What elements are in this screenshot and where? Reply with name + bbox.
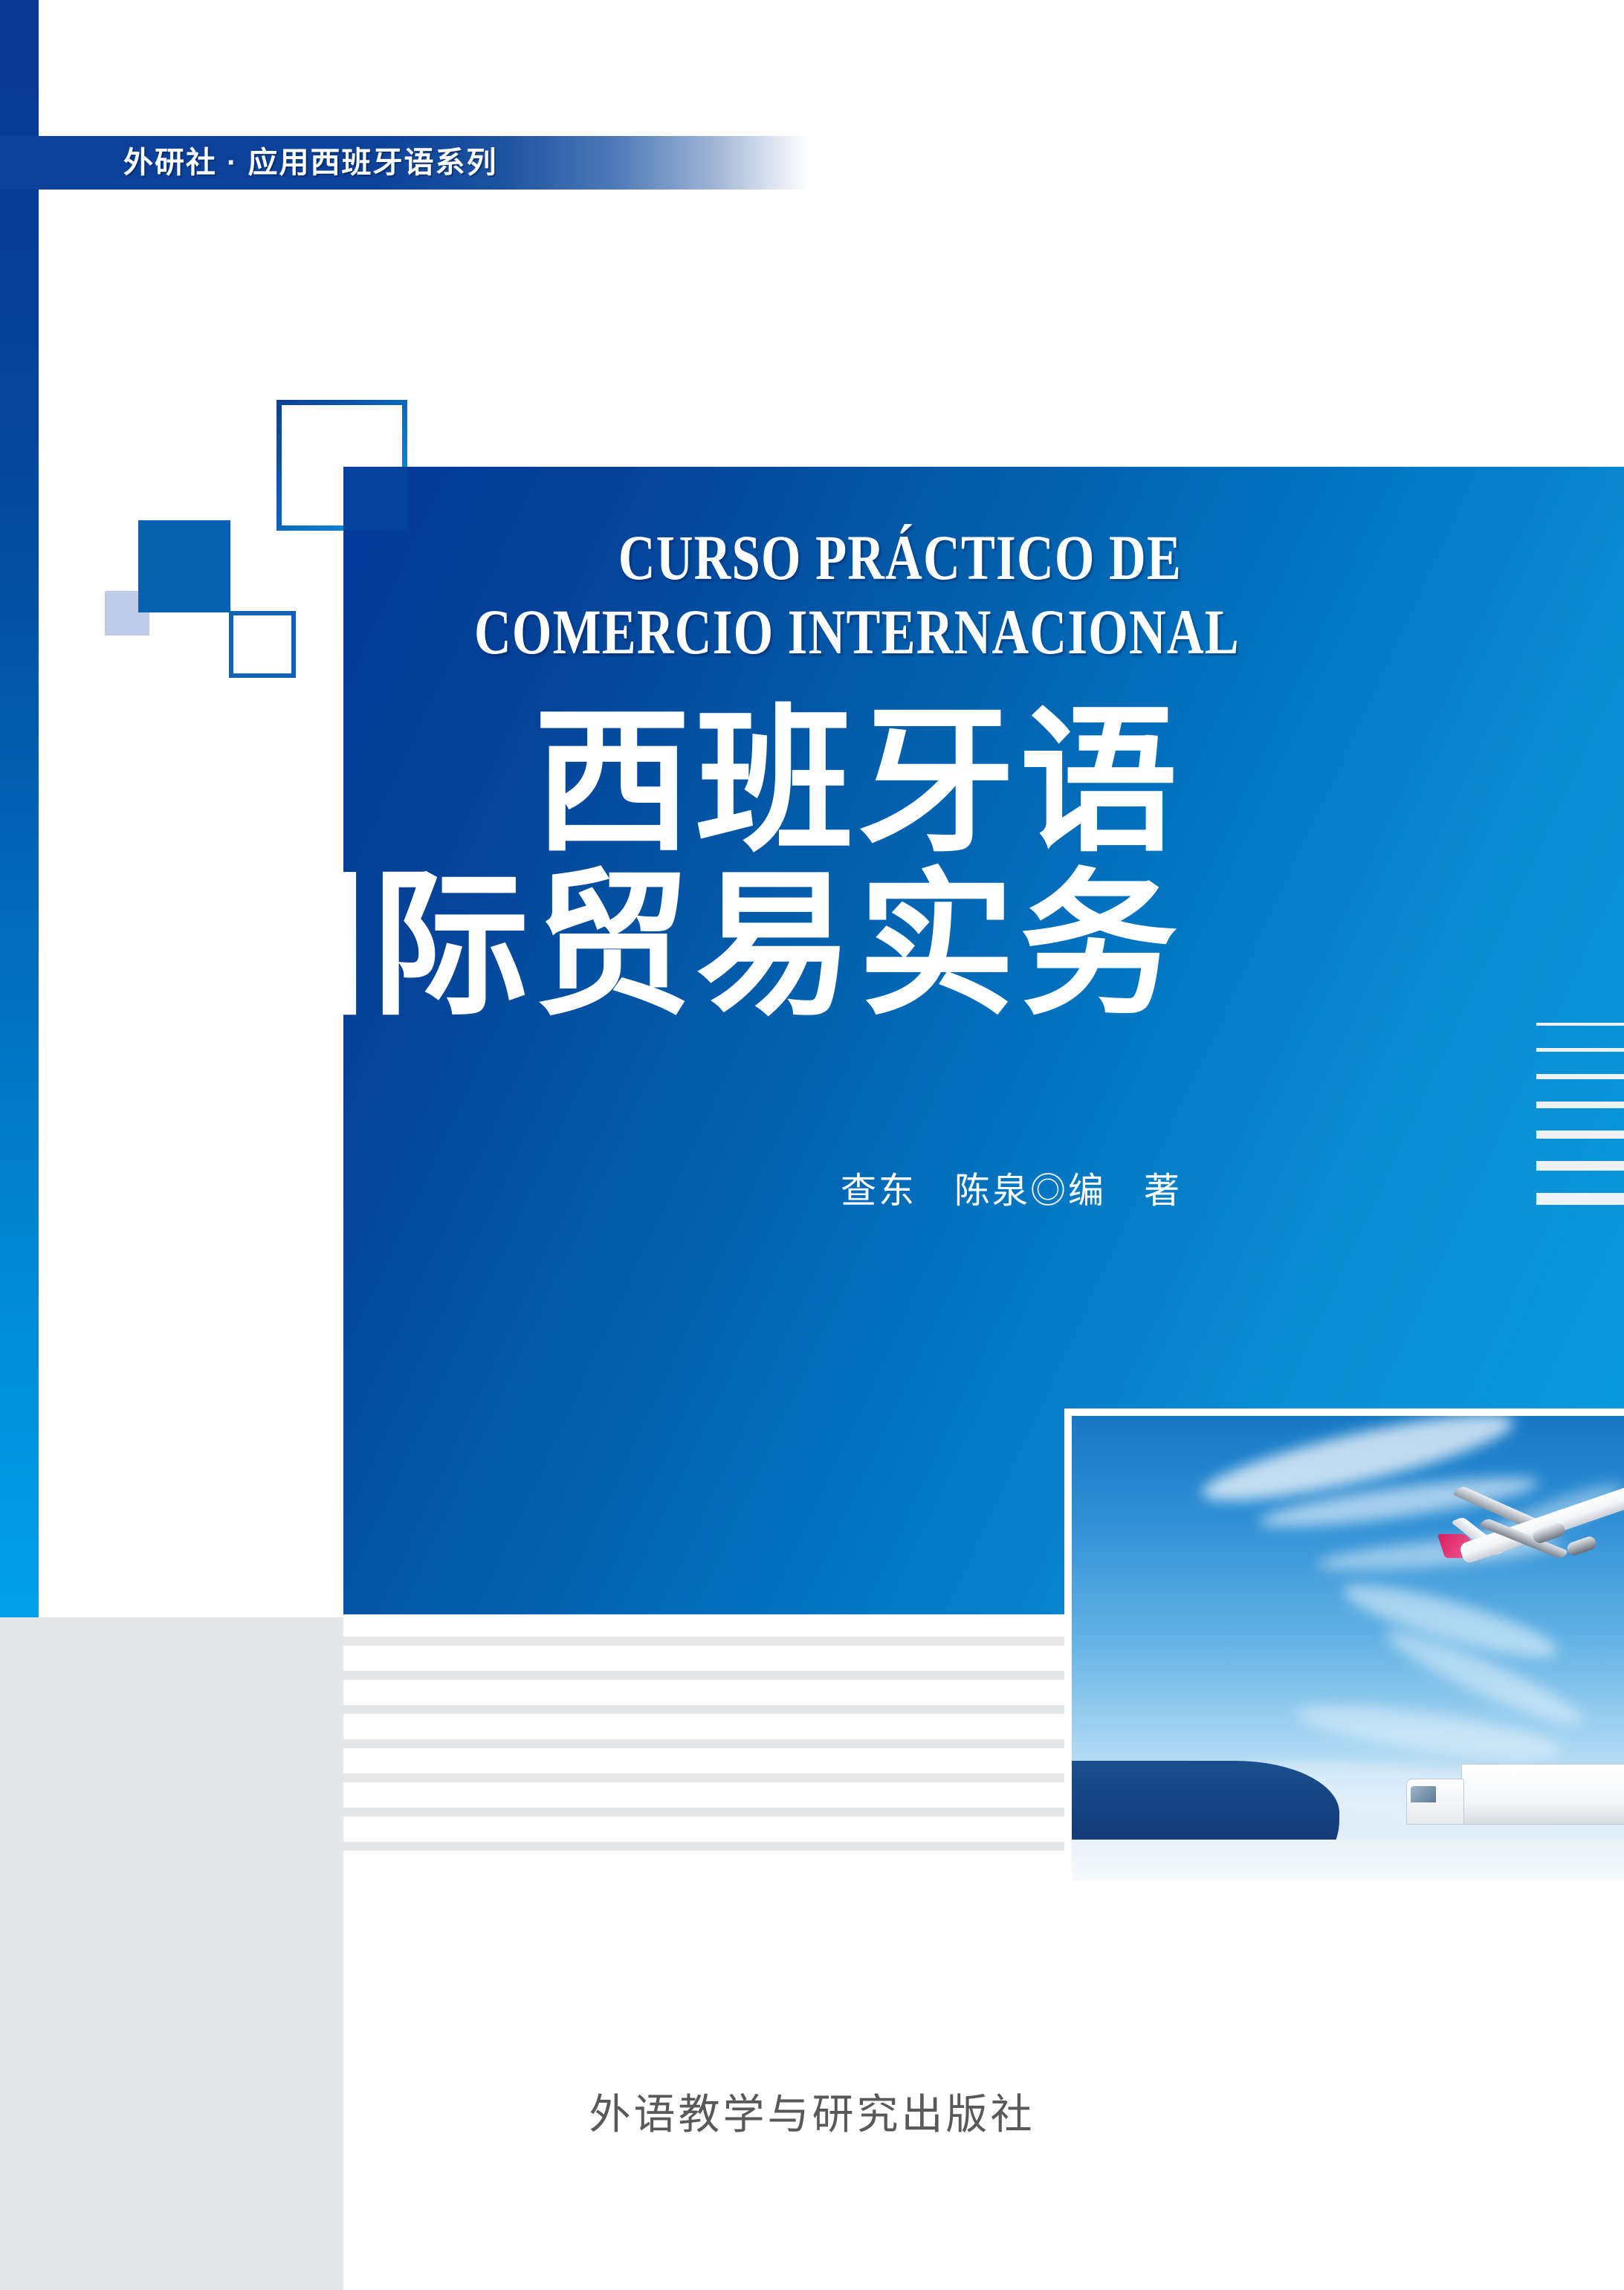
truck-trailer <box>1461 1764 1624 1825</box>
chinese-title: 西班牙语 国际贸易实务 <box>186 700 1182 1027</box>
series-banner-label: 外研社 · 应用西班牙语系列 <box>123 140 498 185</box>
page-edge-stripe <box>343 1637 1064 1646</box>
plane-engine-2 <box>1565 1535 1598 1557</box>
spanish-title-line-1: CURSO PRÁCTICO DE <box>618 522 1182 593</box>
decorative-square-outline-small <box>229 611 296 678</box>
page-edge-stripe <box>343 1671 1064 1680</box>
decorative-rule <box>1536 1048 1624 1052</box>
book-cover: 外研社 · 应用西班牙语系列 CURSO PRÁCTICO DE COMERCI… <box>0 0 1624 2290</box>
panel-corner-square <box>343 467 407 531</box>
chinese-title-line-1: 西班牙语 <box>186 700 1182 864</box>
decorative-rule <box>1536 1023 1624 1026</box>
decorative-rule-group <box>1536 1023 1624 1205</box>
page-edge-stripe <box>0 1791 343 1814</box>
cargo-airplane <box>1421 1462 1624 1603</box>
page-edge-stripe <box>343 1773 1064 1782</box>
container-ship <box>1072 1461 1317 1881</box>
page-edge-stripe <box>0 1860 343 1912</box>
page-edge-stripe <box>0 1723 343 1745</box>
sea-horizon <box>1072 1840 1624 1881</box>
page-edge-stripe <box>343 1842 1064 1851</box>
left-accent-bar <box>0 0 39 1617</box>
publisher-name: 外语教学与研究出版社 <box>0 2081 1624 2141</box>
page-edge-stripe <box>343 1705 1064 1714</box>
page-edge-stripe <box>0 1825 343 1845</box>
international-logistics-photo <box>1072 1416 1624 1881</box>
page-edge-stripe <box>0 1620 343 1643</box>
truck-windshield <box>1411 1786 1436 1802</box>
decorative-rule <box>1536 1193 1624 1205</box>
decorative-rule <box>1536 1074 1624 1079</box>
cover-photo-frame <box>1064 1408 1624 1889</box>
page-edge-stripe <box>343 1739 1064 1748</box>
decorative-rule <box>1536 1102 1624 1108</box>
page-edge-stripe <box>0 1689 343 1711</box>
decorative-square-blue-filled <box>138 520 230 612</box>
spanish-title-line-2: COMERCIO INTERNACIONAL <box>474 595 1182 669</box>
decorative-rule <box>1536 1131 1624 1139</box>
decorative-rule <box>1536 1161 1624 1171</box>
page-edge-stripe <box>0 1655 343 1677</box>
page-edge-stripe <box>0 1757 343 1779</box>
author-line: 查东 陈泉◎编 著 <box>520 1161 1182 1213</box>
spanish-title: CURSO PRÁCTICO DE COMERCIO INTERNACIONAL <box>474 520 1182 669</box>
chinese-title-line-2: 国际贸易实务 <box>186 864 1182 1027</box>
page-edge-stripe <box>343 1808 1064 1817</box>
